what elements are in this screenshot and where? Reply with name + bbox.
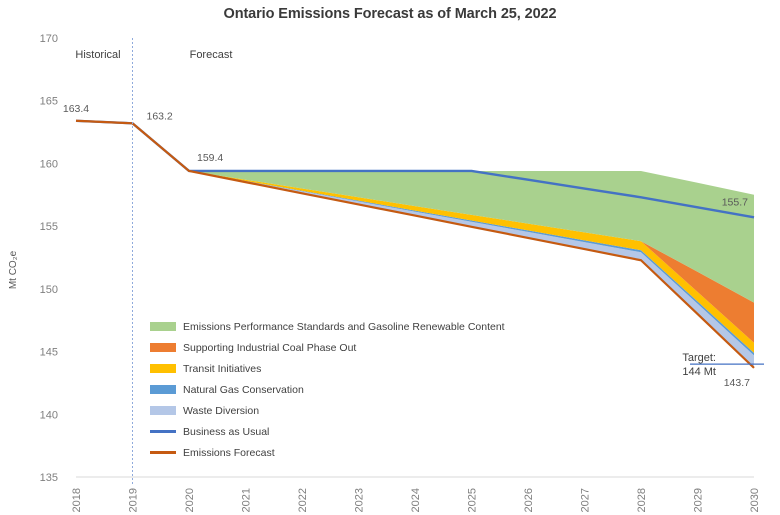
x-tick-label: 2018: [71, 488, 83, 512]
x-tick-label: 2019: [128, 488, 140, 512]
legend-label: Waste Diversion: [183, 405, 259, 417]
x-tick-label: 2030: [749, 488, 761, 512]
y-tick-label: 145: [40, 347, 58, 359]
legend-swatch-business-as-usual: [150, 430, 176, 433]
y-tick-label: 165: [40, 96, 58, 108]
legend-label: Natural Gas Conservation: [183, 384, 304, 396]
legend-item[interactable]: Natural Gas Conservation: [150, 379, 505, 400]
legend-swatch-natural-gas-conservation: [150, 385, 176, 394]
x-tick-label: 2024: [410, 488, 422, 512]
chart-container: Ontario Emissions Forecast as of March 2…: [0, 0, 780, 515]
annotation-forecast-zone: Forecast: [190, 49, 233, 61]
y-axis-title: Mt CO₂e: [8, 250, 19, 289]
x-tick-label: 2025: [467, 488, 479, 512]
x-tick-label: 2021: [241, 488, 253, 512]
x-tick-label: 2023: [354, 488, 366, 512]
data-label-159-4: 159.4: [197, 152, 223, 164]
x-tick-label: 2026: [523, 488, 535, 512]
target-label-line2: 144 Mt: [682, 366, 716, 378]
legend-item[interactable]: Business as Usual: [150, 421, 505, 442]
legend-swatch-emissions-performance-standards-and-gasoline-renewable-content: [150, 322, 176, 331]
x-tick-label: 2028: [636, 488, 648, 512]
legend-label: Supporting Industrial Coal Phase Out: [183, 342, 356, 354]
x-tick-label: 2029: [693, 488, 705, 512]
legend-label: Business as Usual: [183, 426, 269, 438]
legend-label: Emissions Forecast: [183, 447, 275, 459]
legend-item[interactable]: Supporting Industrial Coal Phase Out: [150, 337, 505, 358]
y-tick-label: 155: [40, 221, 58, 233]
data-label-163-2: 163.2: [147, 110, 173, 122]
legend-item[interactable]: Transit Initiatives: [150, 358, 505, 379]
legend-item[interactable]: Emissions Forecast: [150, 442, 505, 463]
legend-swatch-transit-initiatives: [150, 364, 176, 373]
target-label-line1: Target:: [682, 352, 716, 364]
data-label-155-7: 155.7: [722, 196, 748, 208]
legend-item[interactable]: Emissions Performance Standards and Gaso…: [150, 316, 505, 337]
y-tick-label: 135: [40, 472, 58, 484]
x-tick-label: 2027: [580, 488, 592, 512]
legend-swatch-waste-diversion: [150, 406, 176, 415]
x-tick-label: 2022: [297, 488, 309, 512]
y-tick-label: 160: [40, 158, 58, 170]
annotation-historical-zone: Historical: [75, 49, 120, 61]
legend-label: Emissions Performance Standards and Gaso…: [183, 321, 505, 333]
legend-swatch-emissions-forecast: [150, 451, 176, 454]
x-tick-label: 2020: [184, 488, 196, 512]
legend-label: Transit Initiatives: [183, 363, 261, 375]
chart-legend: Emissions Performance Standards and Gaso…: [150, 316, 505, 463]
y-tick-label: 170: [40, 33, 58, 45]
y-tick-label: 150: [40, 284, 58, 296]
legend-swatch-supporting-industrial-coal-phase-out: [150, 343, 176, 352]
data-label-163-4: 163.4: [63, 103, 89, 115]
y-tick-label: 140: [40, 409, 58, 421]
data-label-143-7: 143.7: [724, 377, 750, 389]
legend-item[interactable]: Waste Diversion: [150, 400, 505, 421]
